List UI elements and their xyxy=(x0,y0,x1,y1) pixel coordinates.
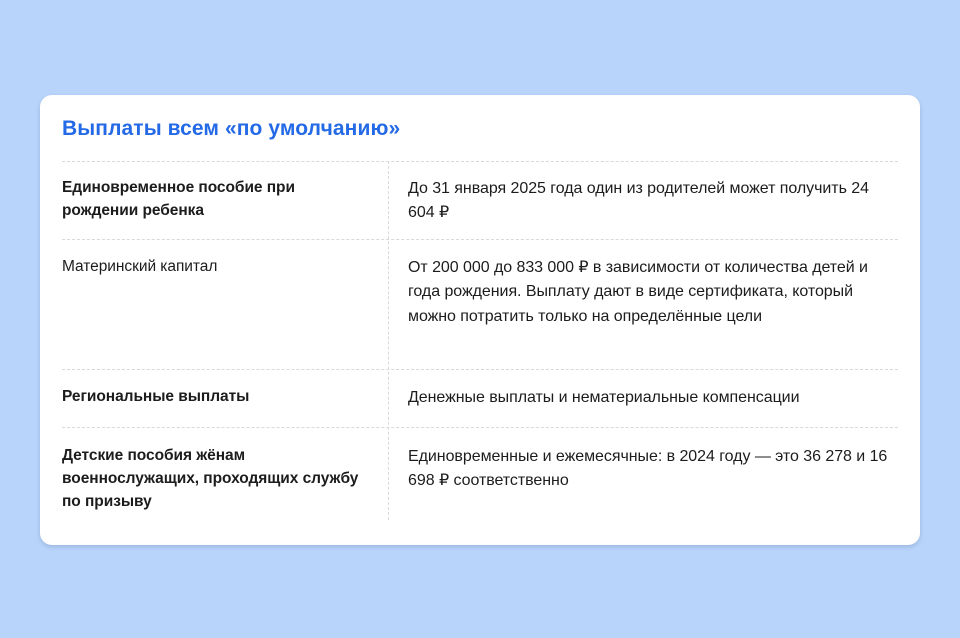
card-title: Выплаты всем «по умолчанию» xyxy=(62,117,400,141)
row-label: Материнский капитал xyxy=(62,239,362,279)
table-row: Материнский капитал От 200 000 до 833 00… xyxy=(62,239,898,369)
row-value: Денежные выплаты и нематериальные компен… xyxy=(408,369,898,410)
card-content: Выплаты всем «по умолчанию» Единовременн… xyxy=(62,95,898,545)
page-background: Выплаты всем «по умолчанию» Единовременн… xyxy=(0,0,960,638)
row-label: Региональные выплаты xyxy=(62,369,362,409)
payments-card: Выплаты всем «по умолчанию» Единовременн… xyxy=(40,95,920,545)
row-value: Единовременные и ежемесячные: в 2024 год… xyxy=(408,427,898,494)
table-row: Региональные выплаты Денежные выплаты и … xyxy=(62,369,898,427)
row-label: Единовременное пособие при рождении ребе… xyxy=(62,161,362,223)
table-row: Единовременное пособие при рождении ребе… xyxy=(62,161,898,239)
table-row: Детские пособия жёнам военнослужащих, пр… xyxy=(62,427,898,537)
row-value: До 31 января 2025 года один из родителей… xyxy=(408,161,898,226)
row-value: От 200 000 до 833 000 ₽ в зависимости от… xyxy=(408,239,898,329)
row-label: Детские пособия жёнам военнослужащих, пр… xyxy=(62,427,362,513)
